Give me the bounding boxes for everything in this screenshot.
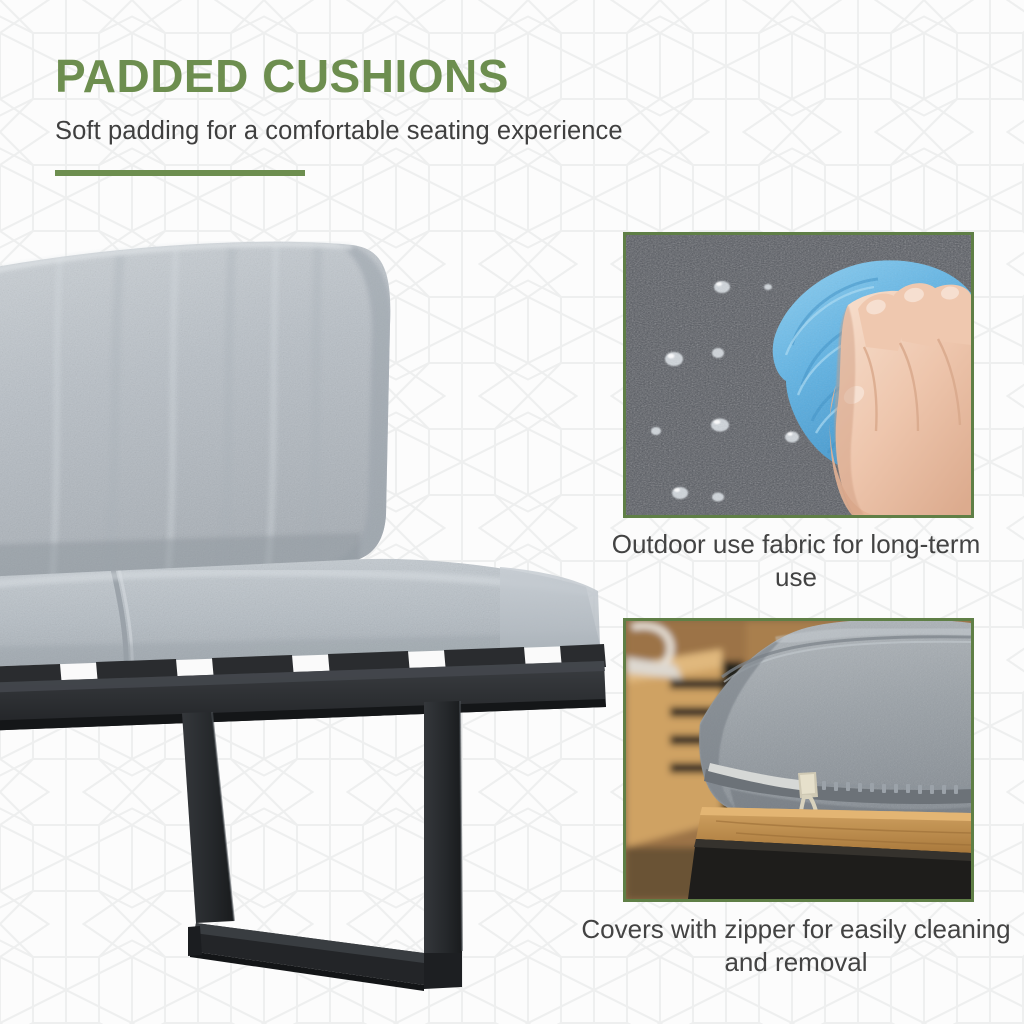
feature-image-zipper [623,618,974,902]
feature-image-fabric [623,232,974,518]
outdoor-sofa-photo [0,215,612,1005]
sofa-leg [182,701,462,991]
feature-caption-zipper: Covers with zipper for easily cleaning a… [566,913,1024,980]
header-block: PADDED CUSHIONS Soft padding for a comfo… [55,52,623,176]
back-cushion [0,235,612,595]
feature-caption-fabric: Outdoor use fabric for long-term use [596,528,996,595]
hand [830,283,971,515]
page-subtitle: Soft padding for a comfortable seating e… [55,100,623,146]
page-title: PADDED CUSHIONS [55,52,623,100]
product-feature-banner: PADDED CUSHIONS Soft padding for a comfo… [0,0,1024,1024]
accent-rule [55,170,305,176]
